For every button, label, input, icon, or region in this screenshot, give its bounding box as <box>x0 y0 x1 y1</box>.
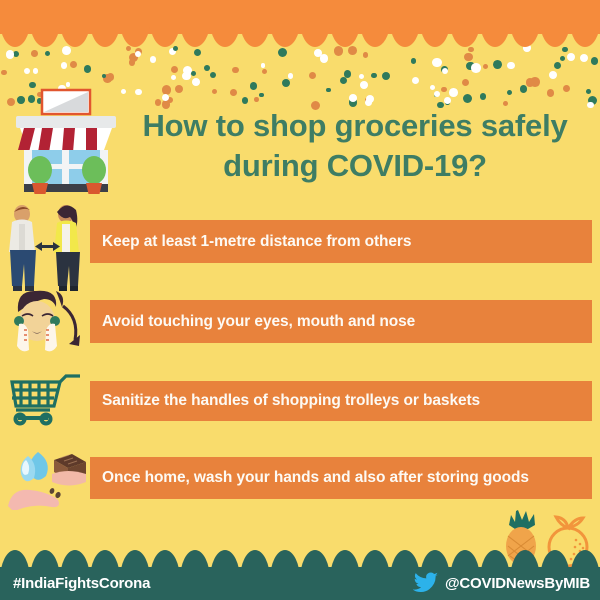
tip-bar-2: Avoid touching your eyes, mouth and nose <box>90 300 592 343</box>
two-people-distance-icon <box>2 200 90 292</box>
soap-bar <box>52 454 86 486</box>
twitter-handle-label: @COVIDNewsByMIB <box>445 575 590 592</box>
footer-scallop-edge <box>0 550 600 568</box>
title-line-2: during COVID-19? <box>118 146 592 186</box>
tip-bar-4: Once home, wash your hands and also afte… <box>90 457 592 499</box>
hashtag-label: #IndiaFightsCorona <box>0 575 150 592</box>
page-title: How to shop groceries safely during COVI… <box>118 106 592 185</box>
tip-text-2: Avoid touching your eyes, mouth and nose <box>90 313 415 331</box>
title-line-1: How to shop groceries safely <box>142 108 567 143</box>
footer-bar: #IndiaFightsCorona @COVIDNewsByMIB <box>0 567 600 600</box>
twitter-bird-icon <box>413 571 439 597</box>
face-touching-icon <box>6 288 88 360</box>
tip-text-1: Keep at least 1-metre distance from othe… <box>90 233 411 251</box>
shopping-trolley-icon <box>8 372 84 428</box>
twitter-handle-group[interactable]: @COVIDNewsByMIB <box>413 571 600 597</box>
tip-text-3: Sanitize the handles of shopping trolley… <box>90 392 480 410</box>
tip-bar-3: Sanitize the handles of shopping trolley… <box>90 381 592 421</box>
top-scallop-edge <box>0 34 600 50</box>
storefront-icon <box>10 88 122 196</box>
tip-text-4: Once home, wash your hands and also afte… <box>90 469 529 487</box>
tip-bar-1: Keep at least 1-metre distance from othe… <box>90 220 592 263</box>
infographic-poster: How to shop groceries safely during COVI… <box>0 0 600 600</box>
handwash-soap-icon <box>6 448 90 510</box>
